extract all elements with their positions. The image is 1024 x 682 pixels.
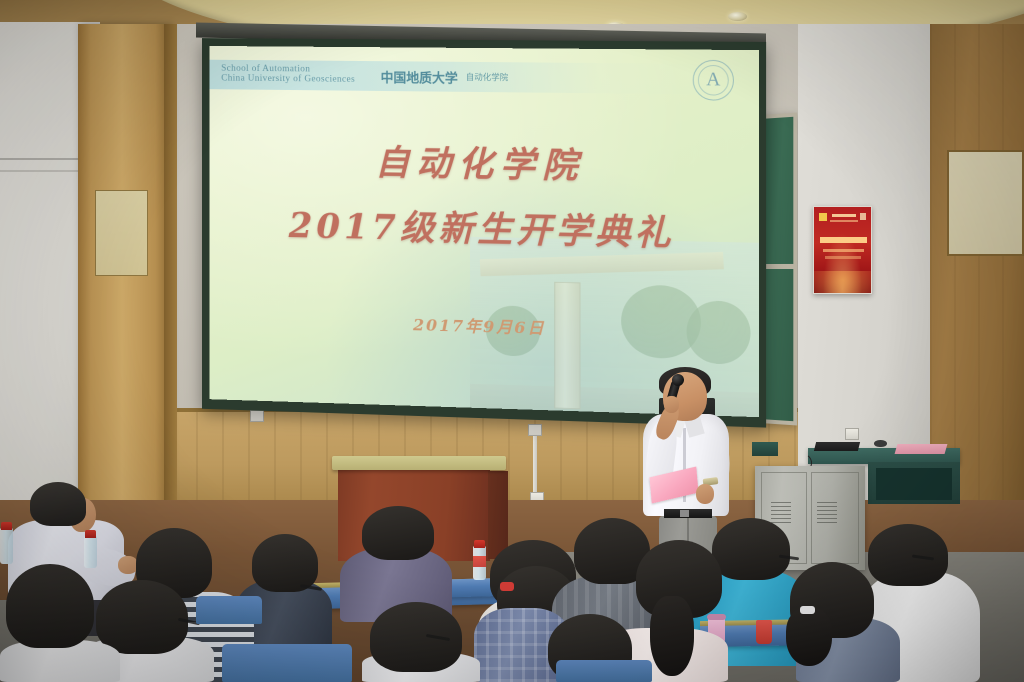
wall-socket[interactable] [528,424,542,436]
university-seal-icon: A [693,60,734,101]
microphone-head [672,374,684,386]
laptop[interactable] [814,442,860,451]
pillar-inset-panel [95,190,148,276]
slide-title-line1: 自动化学院 [210,132,759,192]
chair[interactable] [556,660,652,682]
slide-header-english-line2: China University of Geosciences [221,75,355,86]
person-hair [362,506,434,560]
person-hair [6,564,94,648]
presenter-left-hand [664,396,679,413]
presenter-right-hand [696,484,714,504]
poster-glow [813,271,872,294]
slide-header-university: 中国地质大学 [381,67,458,87]
downlight-icon [728,12,747,21]
poster-emblem-icon [860,213,866,220]
person-hair [712,518,790,580]
person-ponytail [786,608,832,666]
pink-cup-lid [707,614,726,620]
bottle-cap-icon [1,522,12,530]
poster-top-text [830,220,858,222]
person-ponytail [650,596,694,676]
pink-paper-on-desk [895,444,948,454]
red-hair-tie [500,582,514,591]
wall-socket[interactable] [845,428,859,440]
lectern-top [332,456,506,470]
slide-title-line2: 2017级新生开学典礼 [210,196,759,258]
chair[interactable] [222,644,352,682]
bottle-cap-icon [474,540,485,548]
photo-gate-pillar [554,282,580,410]
chair[interactable] [196,596,262,624]
presenter-belt-buckle [680,510,689,517]
person-hair [868,524,948,586]
av-desk-cavity [876,468,952,500]
poster-subline [825,256,861,259]
projected-slide: School of Automation China University of… [210,46,759,417]
person-hair [96,580,188,654]
poster-top-text [832,214,856,217]
bottle-label [473,556,486,567]
red-poster [813,206,872,294]
slide-header-ribbon: School of Automation China University of… [210,60,759,95]
poster-emblem-icon [819,213,827,221]
cabinet-vent [817,502,837,524]
white-hair-tie [800,606,815,614]
person-hair [30,482,86,526]
poster-headline [820,237,867,243]
wall-seam [0,170,82,172]
av-desk-left-stub [752,442,778,456]
university-seal-letter: A [698,65,729,96]
water-bottle[interactable] [84,536,97,568]
slide-title-block: 自动化学院 2017级新生开学典礼 [210,132,759,258]
red-cup[interactable] [756,620,772,644]
slide-header-school: 自动化学院 [466,71,508,83]
bottle-cap-icon [85,530,96,538]
poster-subline [823,249,864,252]
lectern-side [488,471,508,559]
wall-socket[interactable] [250,410,264,422]
wall-inset-panel-right [947,150,1024,256]
slide-header-english: School of Automation China University of… [221,65,355,86]
water-bottle[interactable] [0,528,13,564]
photograph-scene: School of Automation China University of… [0,0,1024,682]
person-hair [252,534,318,592]
person-hand [118,556,138,574]
mouse[interactable] [874,440,887,447]
cabinet-vent [771,502,791,524]
wall-conduit [533,436,537,500]
